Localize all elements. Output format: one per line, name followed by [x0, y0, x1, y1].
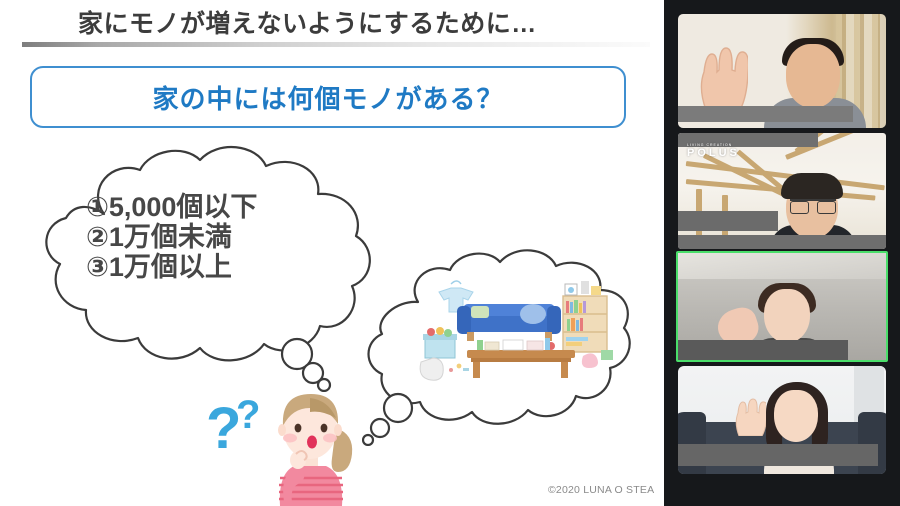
- participant-name-redaction-3: [678, 340, 848, 360]
- video-tile-participant-1[interactable]: [678, 14, 886, 128]
- cluttered-living-room-illustration: [415, 278, 615, 388]
- question-callout-box: 家の中には何個モノがある？: [30, 66, 626, 128]
- title-divider: [22, 42, 650, 47]
- virtual-background-logo: LIVING CREATION POLUS: [687, 143, 740, 159]
- option-2: ②1万個未満: [86, 222, 257, 252]
- video-tile-participant-2[interactable]: LIVING CREATION POLUS: [678, 133, 886, 249]
- participant-name-redaction-2: [678, 235, 886, 249]
- video-feed-2: LIVING CREATION POLUS: [678, 133, 886, 249]
- participant-name-redaction-4: [678, 444, 878, 466]
- thinking-woman-illustration: [262, 384, 358, 506]
- answer-options-list: ①5,000個以下 ②1万個未満 ③1万個以上: [86, 192, 257, 283]
- participant-name-redaction-1: [678, 106, 853, 122]
- copyright-text: ©2020 LUNA O STEA: [548, 484, 654, 496]
- page-title: 家にモノが増えないようにするために…: [78, 4, 537, 40]
- option-1: ①5,000個以下: [86, 192, 257, 222]
- three-fingers-gesture-icon: [696, 36, 748, 110]
- svg-text:?: ?: [236, 393, 260, 437]
- video-tile-participant-3-active-speaker[interactable]: [676, 251, 888, 362]
- video-tile-participant-4[interactable]: [678, 366, 886, 474]
- virtual-background-logo-text: POLUS: [687, 147, 740, 159]
- shared-slide: 家にモノが増えないようにするために… 家の中には何個モノがある？ ①5,000個…: [0, 0, 664, 506]
- question-callout-text: 家の中には何個モノがある？: [152, 79, 503, 116]
- screen-share-meeting-view: 家にモノが増えないようにするために… 家の中には何個モノがある？ ①5,000個…: [0, 0, 900, 506]
- three-fingers-gesture-icon-2: [732, 392, 766, 436]
- option-3: ③1万個以上: [86, 252, 257, 282]
- participant-video-strip: LIVING CREATION POLUS: [664, 0, 900, 506]
